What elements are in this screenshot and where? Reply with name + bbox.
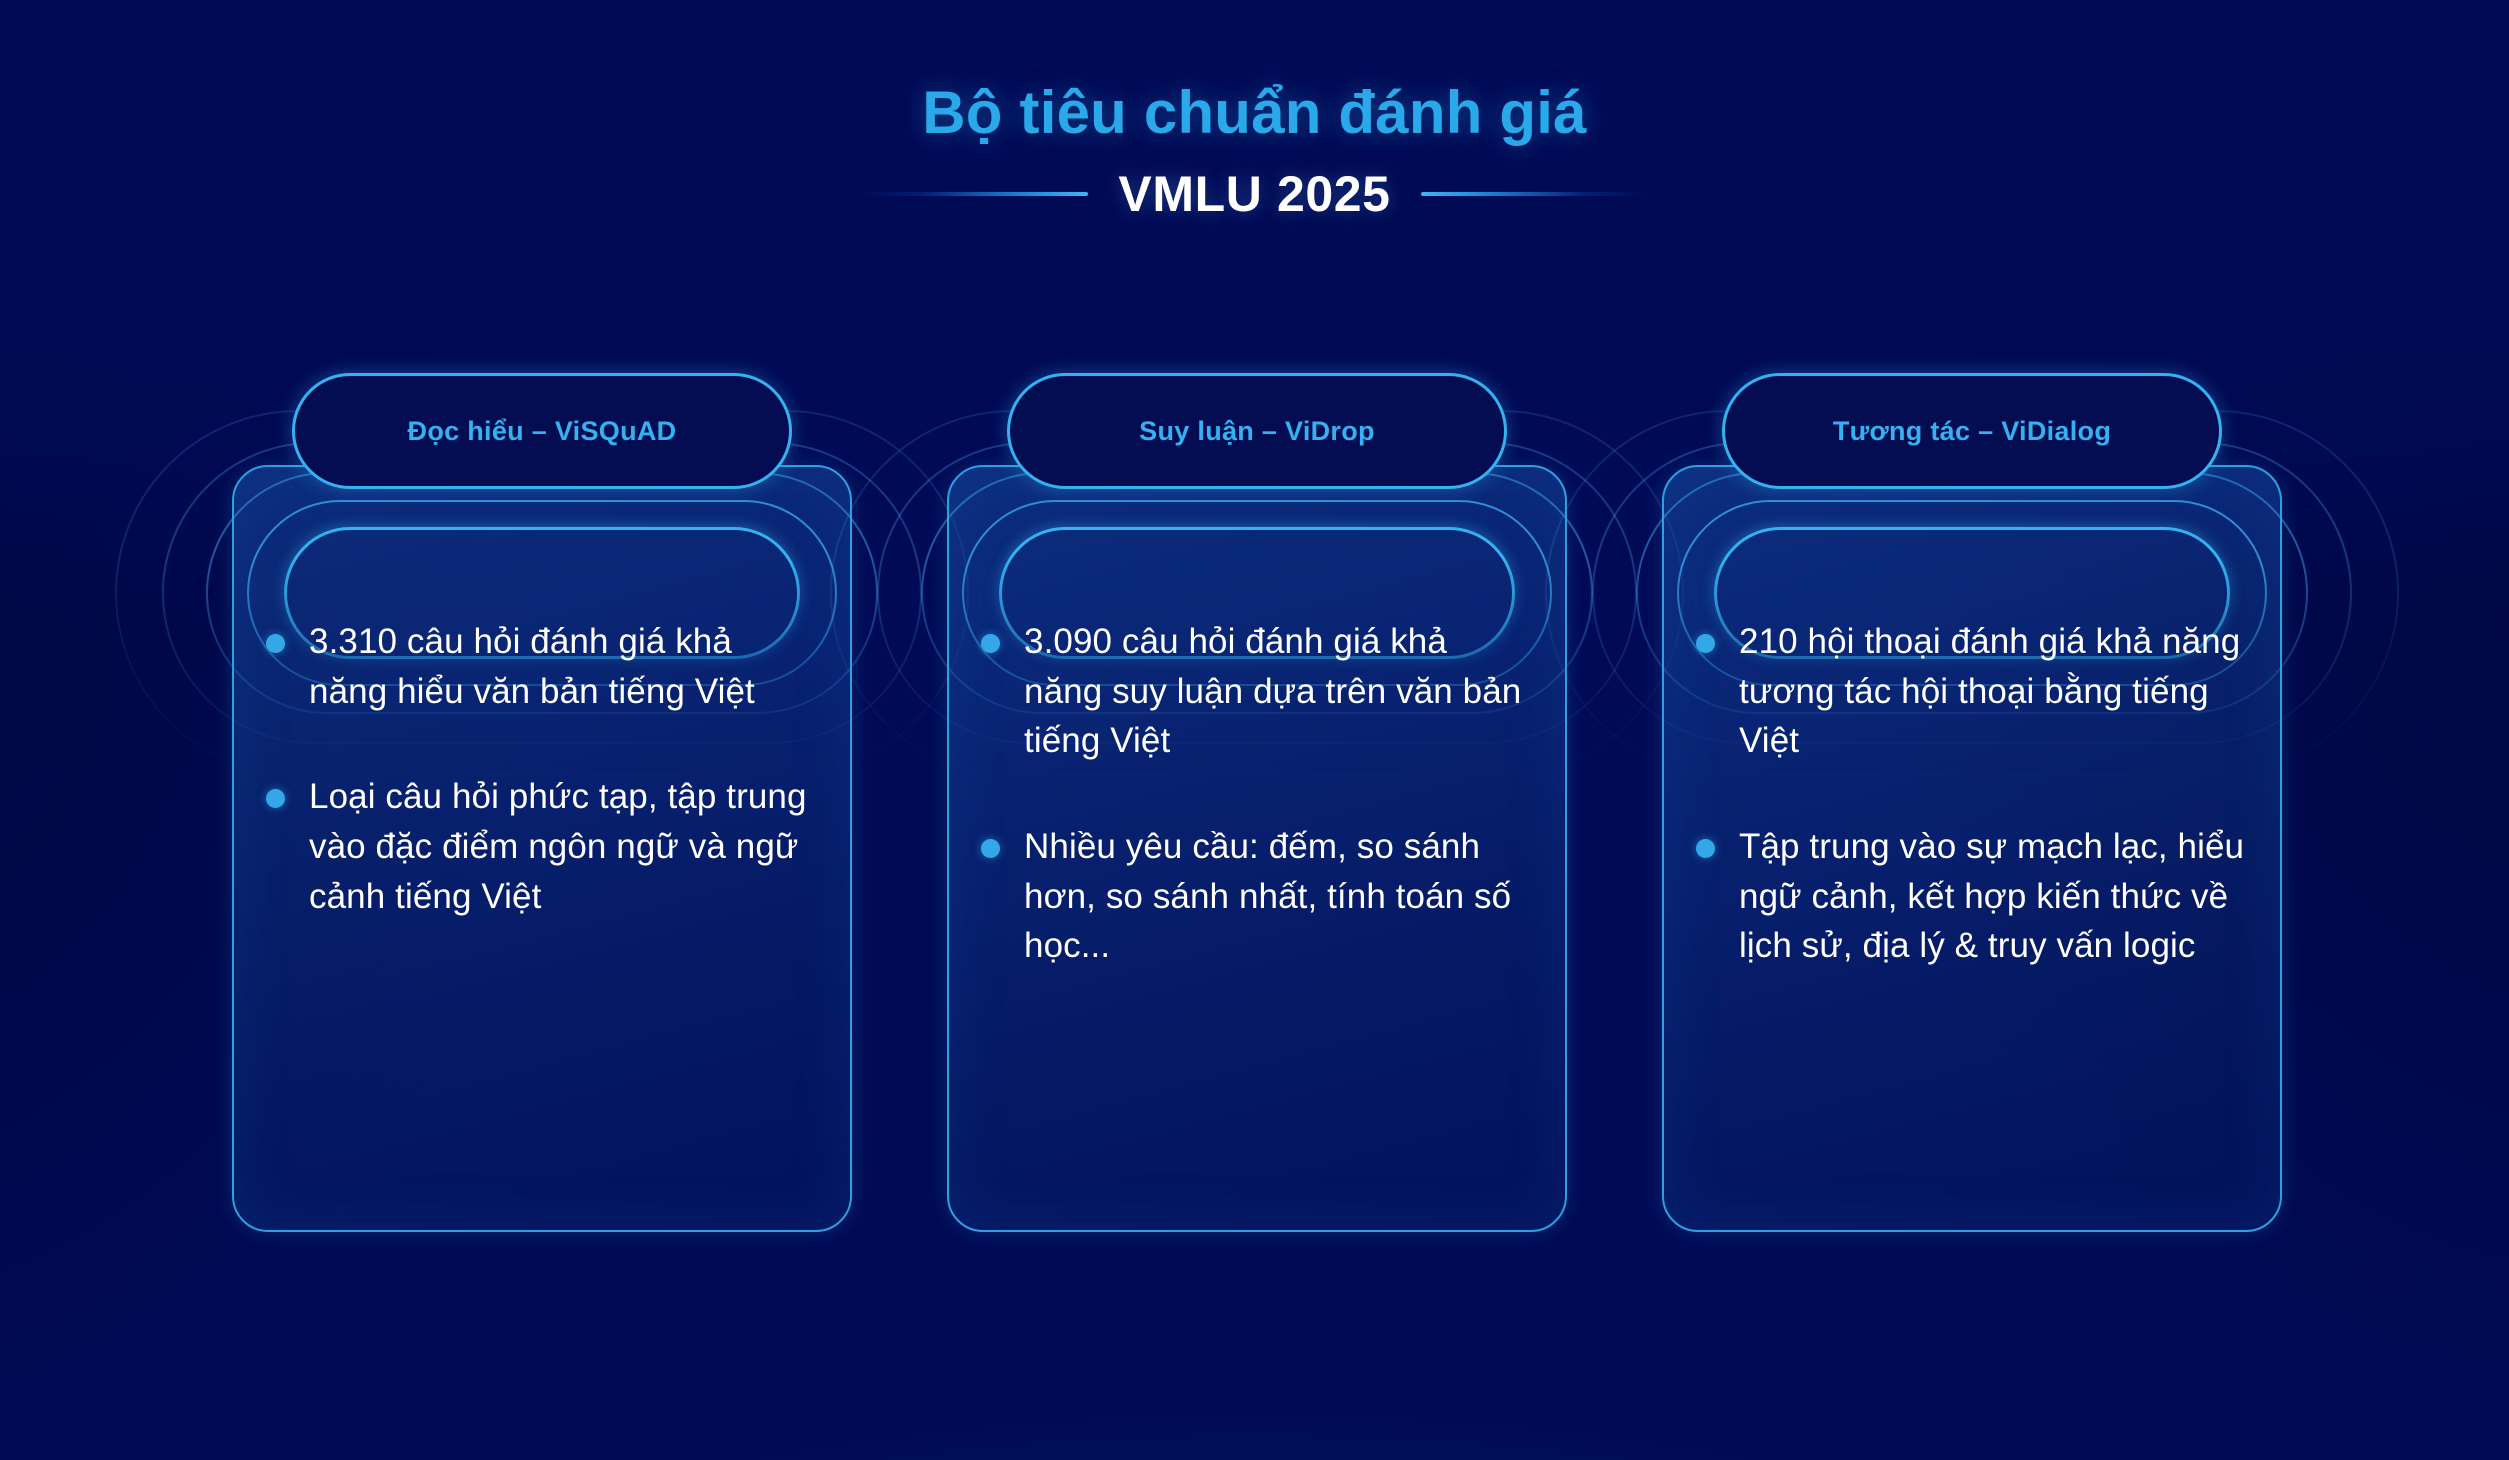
bullet-dot-icon <box>266 634 285 653</box>
card-pill-badge[interactable]: Tương tác – ViDialog <box>1722 373 2222 489</box>
bullet-text: Loại câu hỏi phức tạp, tập trung vào đặc… <box>309 772 818 921</box>
bullet-text: 3.090 câu hỏi đánh giá khả năng suy luận… <box>1024 617 1533 766</box>
bullet-dot-icon <box>981 839 1000 858</box>
card-pill-label: Đọc hiểu – ViSQuAD <box>408 416 677 447</box>
list-item: 3.310 câu hỏi đánh giá khả năng hiểu văn… <box>266 617 818 716</box>
divider-line-left <box>860 192 1088 196</box>
bullet-dot-icon <box>266 789 285 808</box>
card-pill-label: Tương tác – ViDialog <box>1833 416 2111 447</box>
card-bullet-list: 3.090 câu hỏi đánh giá khả năng suy luận… <box>981 617 1533 971</box>
bullet-dot-icon <box>1696 634 1715 653</box>
list-item: 210 hội thoại đánh giá khả năng tương tá… <box>1696 617 2248 766</box>
criteria-card-visquad: Đọc hiểu – ViSQuAD 3.310 câu hỏi đánh gi… <box>232 465 852 1235</box>
page-header: Bộ tiêu chuẩn đánh giá VMLU 2025 <box>0 78 2509 223</box>
page-title: Bộ tiêu chuẩn đánh giá <box>0 78 2509 149</box>
page-subtitle: VMLU 2025 <box>1118 165 1390 223</box>
card-pill-badge[interactable]: Suy luận – ViDrop <box>1007 373 1507 489</box>
bullet-text: 210 hội thoại đánh giá khả năng tương tá… <box>1739 617 2248 766</box>
list-item: Nhiều yêu cầu: đếm, so sánh hơn, so sánh… <box>981 822 1533 971</box>
criteria-card-vidialog: Tương tác – ViDialog 210 hội thoại đánh … <box>1662 465 2282 1235</box>
list-item: Tập trung vào sự mạch lạc, hiểu ngữ cảnh… <box>1696 822 2248 971</box>
bullet-text: Tập trung vào sự mạch lạc, hiểu ngữ cảnh… <box>1739 822 2248 971</box>
criteria-card-grid: Đọc hiểu – ViSQuAD 3.310 câu hỏi đánh gi… <box>232 465 2282 1235</box>
card-bullet-list: 3.310 câu hỏi đánh giá khả năng hiểu văn… <box>266 617 818 921</box>
list-item: 3.090 câu hỏi đánh giá khả năng suy luận… <box>981 617 1533 766</box>
criteria-card-vidrop: Suy luận – ViDrop 3.090 câu hỏi đánh giá… <box>947 465 1567 1235</box>
bullet-dot-icon <box>981 634 1000 653</box>
list-item: Loại câu hỏi phức tạp, tập trung vào đặc… <box>266 772 818 921</box>
bullet-text: 3.310 câu hỏi đánh giá khả năng hiểu văn… <box>309 617 818 716</box>
bullet-dot-icon <box>1696 839 1715 858</box>
card-pill-badge[interactable]: Đọc hiểu – ViSQuAD <box>292 373 792 489</box>
subtitle-row: VMLU 2025 <box>0 165 2509 223</box>
card-pill-label: Suy luận – ViDrop <box>1139 416 1375 447</box>
card-bullet-list: 210 hội thoại đánh giá khả năng tương tá… <box>1696 617 2248 971</box>
divider-line-right <box>1421 192 1649 196</box>
bullet-text: Nhiều yêu cầu: đếm, so sánh hơn, so sánh… <box>1024 822 1533 971</box>
